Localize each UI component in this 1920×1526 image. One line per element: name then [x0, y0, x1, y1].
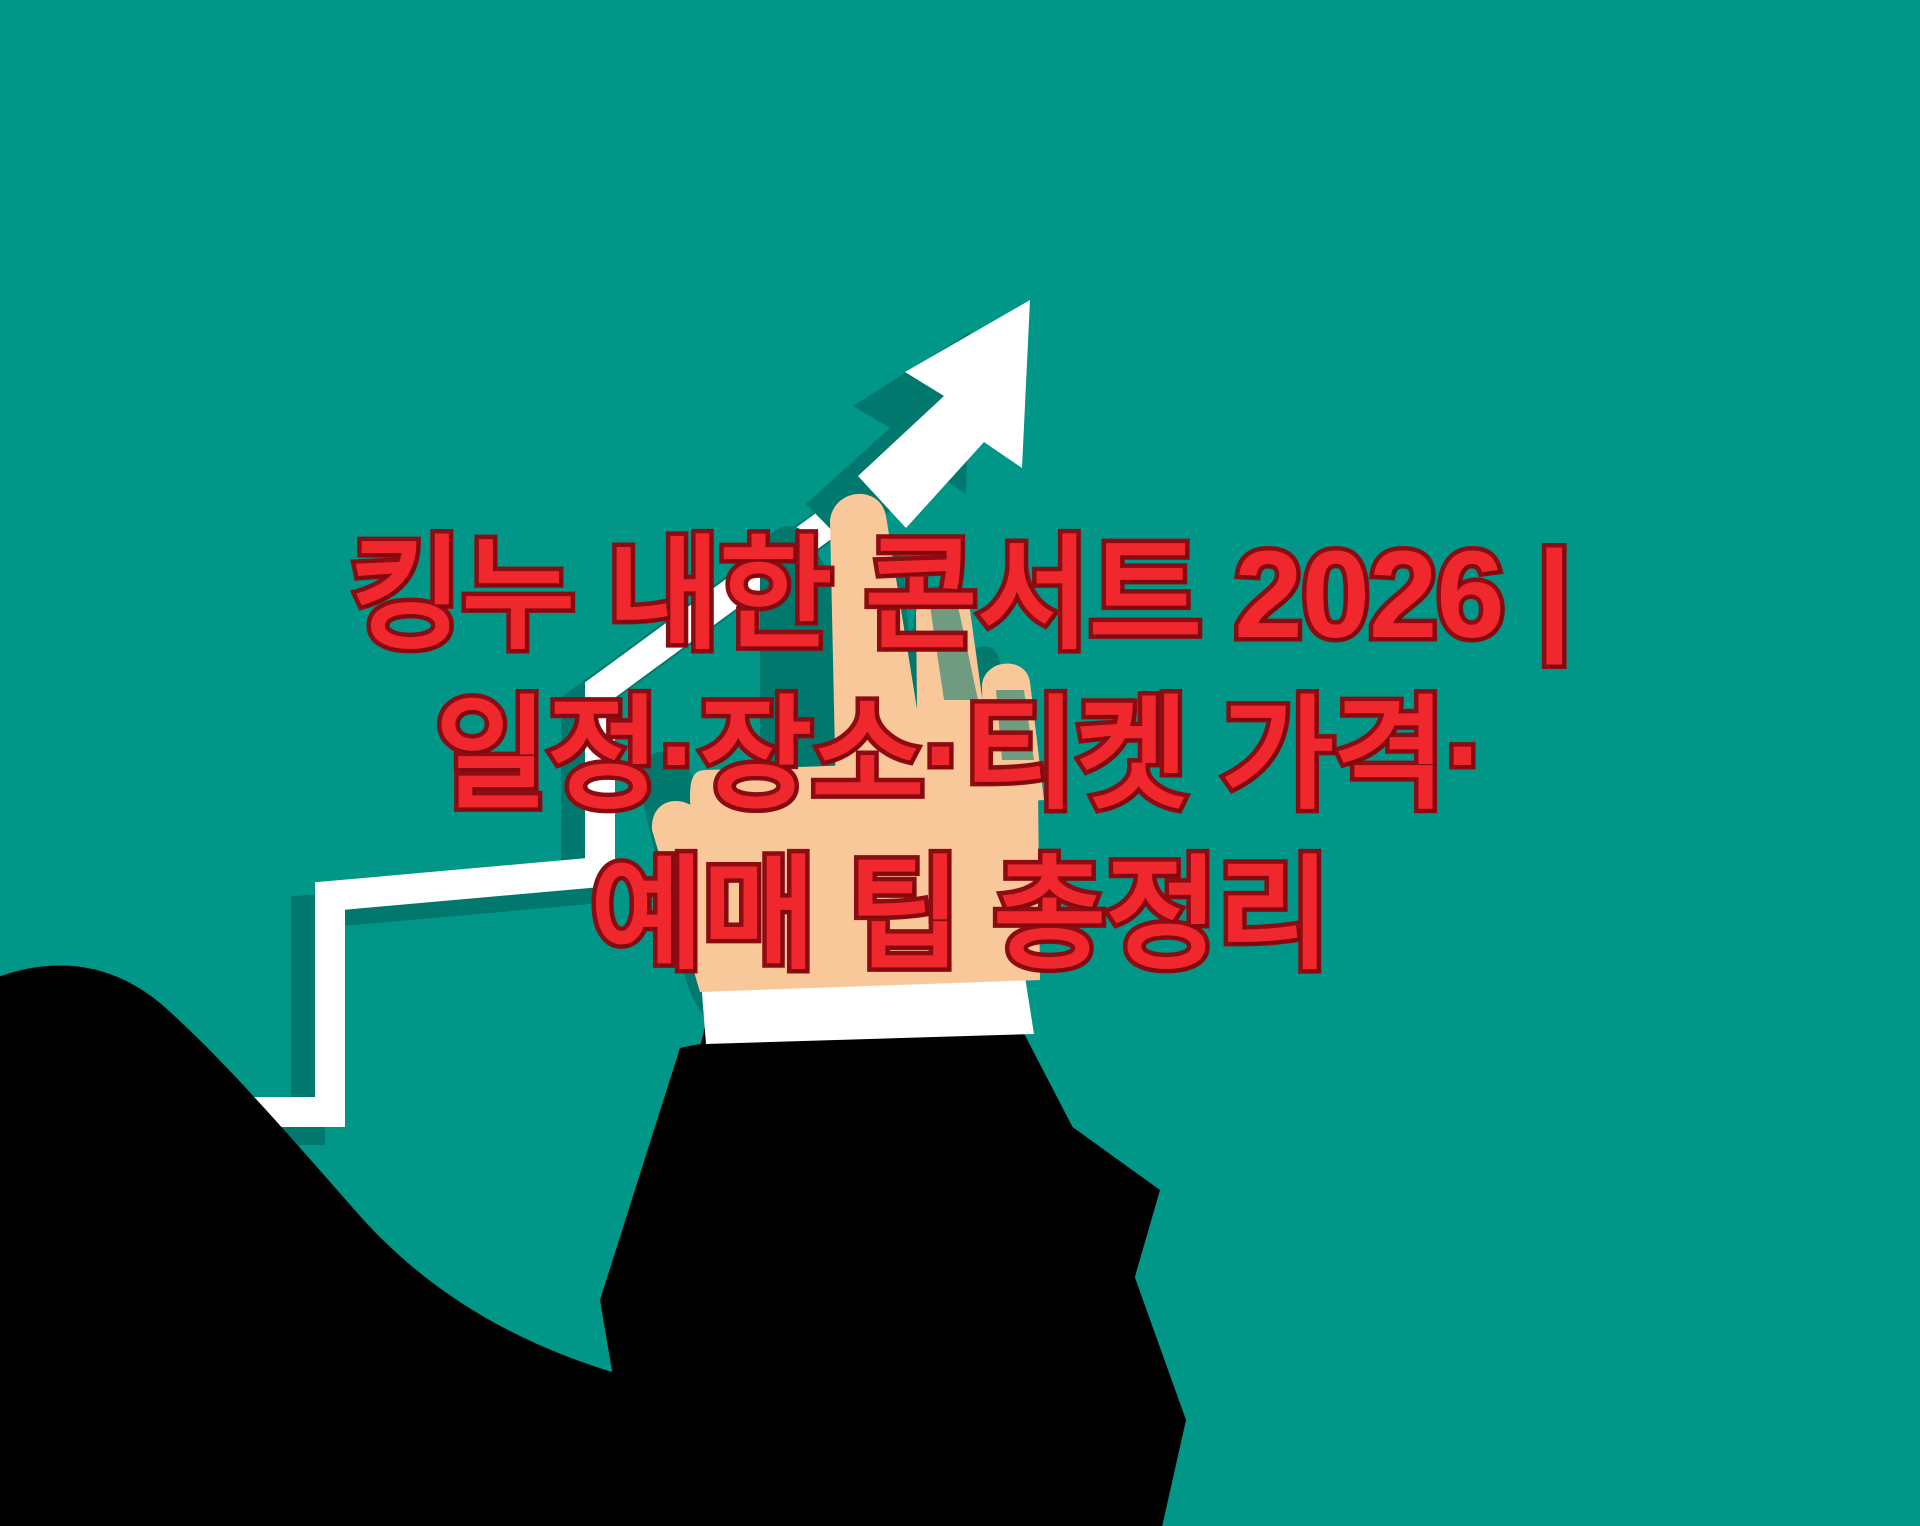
hand-pointing-at-rising-chart-illustration — [0, 0, 1920, 1526]
poster-canvas: 킹누 내한 콘서트 2026 | 일정·장소·티켓 가격· 예매 팁 총정리 — [0, 0, 1920, 1526]
